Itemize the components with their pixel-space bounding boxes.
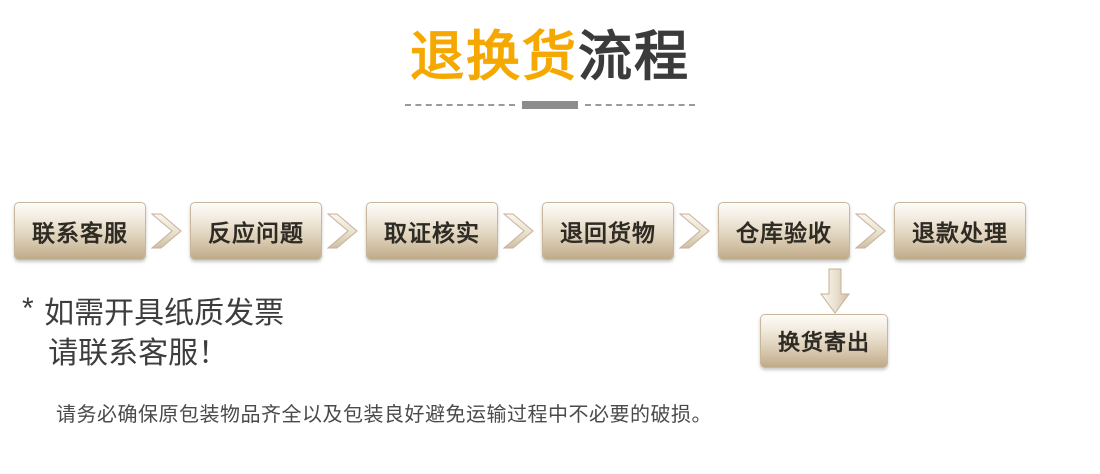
divider-bar xyxy=(522,101,578,109)
chevron-right-icon xyxy=(850,211,894,251)
branch-node-exchange: 换货寄出 xyxy=(760,314,888,368)
note-lines: 如需开具纸质发票 请联系客服！ xyxy=(44,294,284,373)
flow-step-label: 联系客服 xyxy=(32,214,128,248)
flow-diagram: 联系客服 反应问题 取证核实 退回货物 仓 xyxy=(0,196,1100,266)
arrow-down-icon xyxy=(818,268,852,316)
branch-node-label: 换货寄出 xyxy=(778,325,870,357)
flow-step-6: 退款处理 xyxy=(894,202,1026,260)
divider-dash-right xyxy=(585,104,695,108)
flow-step-3: 取证核实 xyxy=(366,202,498,260)
chevron-right-icon xyxy=(322,211,366,251)
divider-dash-left xyxy=(405,104,515,108)
chevron-right-icon xyxy=(674,211,718,251)
note-block: * 如需开具纸质发票 请联系客服！ xyxy=(22,294,284,373)
note-line-2: 请联系客服！ xyxy=(44,334,284,374)
flow-step-1: 联系客服 xyxy=(14,202,146,260)
flow-step-label: 反应问题 xyxy=(208,214,304,248)
page-title-wrapper: 退换货流程 xyxy=(0,0,1100,110)
page-title-rest: 流程 xyxy=(578,27,690,87)
chevron-right-icon xyxy=(498,211,542,251)
page-title: 退换货流程 xyxy=(0,26,1100,88)
chevron-right-icon xyxy=(146,211,190,251)
flow-step-label: 取证核实 xyxy=(384,214,480,248)
flow-step-2: 反应问题 xyxy=(190,202,322,260)
flow-step-label: 退回货物 xyxy=(560,214,656,248)
note-line-1: 如需开具纸质发票 xyxy=(44,294,284,334)
flow-step-label: 仓库验收 xyxy=(736,214,832,248)
flow-step-5: 仓库验收 xyxy=(718,202,850,260)
flow-step-label: 退款处理 xyxy=(912,214,1008,248)
title-divider xyxy=(405,100,695,110)
footnote-text: 请务必确保原包装物品齐全以及包装良好避免运输过程中不必要的破损。 xyxy=(56,398,712,427)
page-title-highlight: 退换货 xyxy=(410,27,578,87)
flow-step-4: 退回货物 xyxy=(542,202,674,260)
note-star: * xyxy=(22,292,34,325)
